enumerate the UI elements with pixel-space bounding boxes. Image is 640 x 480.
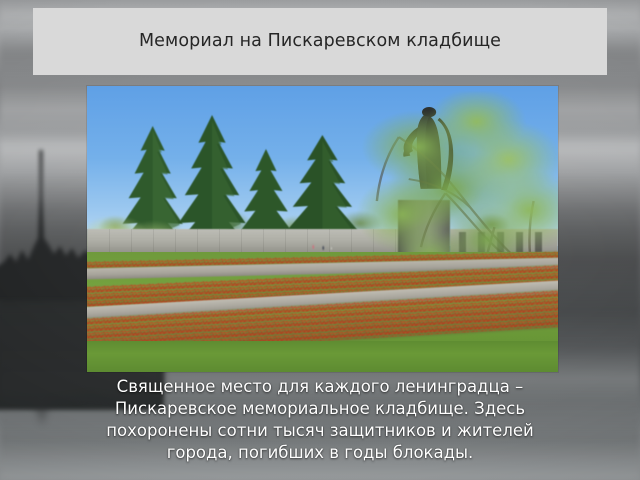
slide-title-box: Мемориал на Пискаревском кладбище <box>33 8 607 75</box>
caption-line-3: похоронены сотни тысяч защитников и жите… <box>30 420 610 442</box>
slide-canvas: Мемориал на Пискаревском кладбище <box>0 0 640 480</box>
visitors <box>304 236 342 256</box>
slide-caption: Священное место для каждого ленинградца … <box>30 376 610 464</box>
caption-line-1: Священное место для каждого ленинградца … <box>30 376 610 398</box>
caption-line-2: Пискаревское мемориальное кладбище. Здес… <box>30 398 610 420</box>
page-title: Мемориал на Пискаревском кладбище <box>139 31 501 52</box>
caption-line-4: города, погибших в годы блокады. <box>30 442 610 464</box>
memorial-photo-content <box>87 86 558 372</box>
foreground-grass <box>87 341 558 372</box>
memorial-photo <box>87 86 558 372</box>
